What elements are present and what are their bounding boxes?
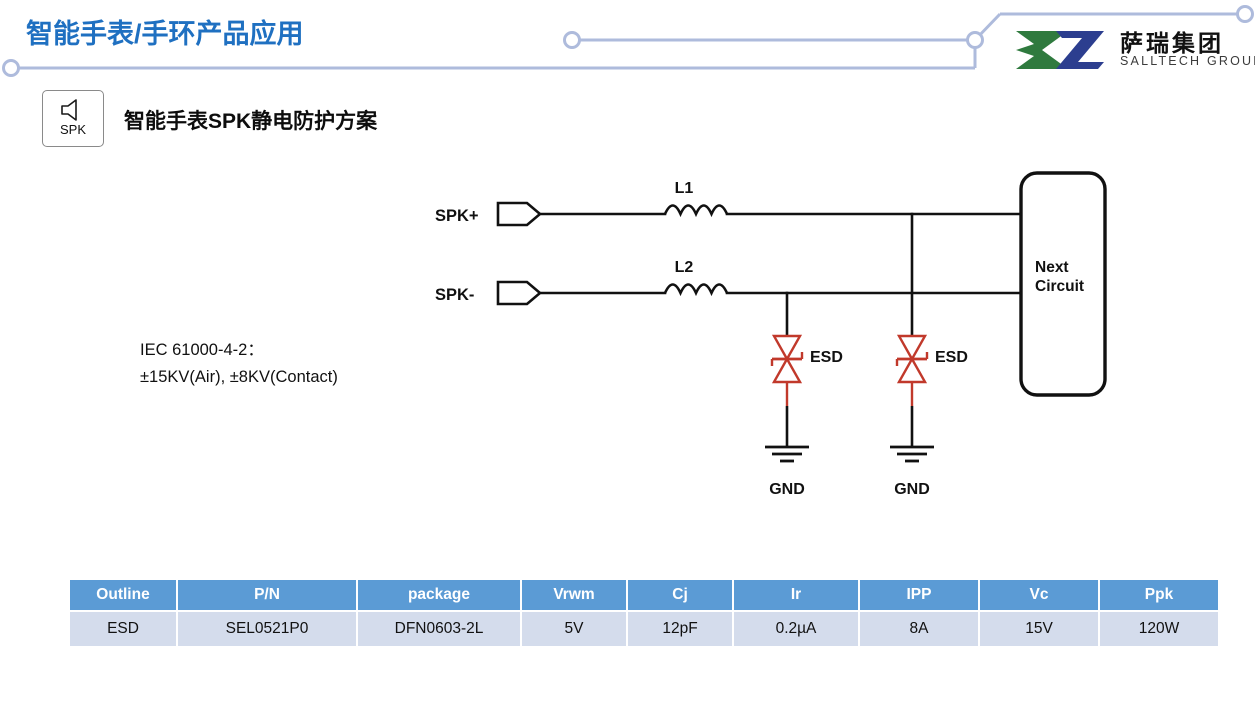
next-circuit-label-line2: Circuit: [1035, 278, 1084, 295]
table-header-pn: P/N: [178, 580, 356, 610]
ground-symbol-left: [765, 447, 809, 461]
deco-node-elbow: [968, 33, 983, 48]
label-gnd-left: GND: [769, 481, 805, 498]
salltech-sz-mark-icon: [1012, 29, 1112, 71]
label-esd-left: ESD: [810, 349, 843, 366]
deco-node-far-right: [1238, 7, 1253, 22]
speaker-icon: [60, 99, 86, 121]
cell-ir: 0.2µA: [734, 612, 858, 646]
esd-left-triangle-top: [774, 336, 800, 359]
table-header-vrwm: Vrwm: [522, 580, 626, 610]
esd-device-left: [772, 336, 802, 406]
logo-green-s: [1016, 31, 1068, 69]
logo-blue-z: [1056, 31, 1104, 69]
parameter-table: Outline P/N package Vrwm Cj Ir IPP Vc Pp…: [68, 578, 1220, 648]
iec-spec-block: IEC 61000-4-2： ±15KV(Air), ±8KV(Contact): [140, 337, 338, 391]
table-header-package: package: [358, 580, 520, 610]
speaker-icon-label: SPK: [43, 122, 103, 137]
table-header-cj: Cj: [628, 580, 732, 610]
logo-chinese-name: 萨瑞集团: [1120, 24, 1224, 58]
label-spk-plus: SPK+: [435, 207, 479, 225]
ground-symbol-right: [890, 447, 934, 461]
connector-spk-minus: [498, 282, 540, 304]
table-header-outline: Outline: [70, 580, 176, 610]
cell-cj: 12pF: [628, 612, 732, 646]
cell-pn: SEL0521P0: [178, 612, 356, 646]
speaker-icon-box: SPK: [42, 90, 104, 147]
company-logo: 萨瑞集团 SALLTECH GROUP: [1012, 26, 1244, 74]
page-title: 智能手表/手环产品应用: [26, 12, 304, 51]
inductor-l2-symbol: [665, 285, 727, 294]
label-inductor-l1: L1: [675, 180, 694, 197]
table-header-ir: Ir: [734, 580, 858, 610]
esd-left-triangle-bottom: [774, 359, 800, 382]
next-circuit-label-line1: Next: [1035, 259, 1069, 276]
deco-line-diagonal: [975, 14, 1000, 40]
table-row: ESD SEL0521P0 DFN0603-2L 5V 12pF 0.2µA 8…: [70, 612, 1218, 646]
label-esd-right: ESD: [935, 349, 968, 366]
slide-root: 智能手表/手环产品应用 萨瑞集团 SALLTECH GROUP SPK 智能手表…: [0, 0, 1255, 707]
inductor-l1-symbol: [665, 206, 727, 215]
iec-spec-line-1: IEC 61000-4-2：: [140, 337, 338, 364]
iec-spec-line-2: ±15KV(Air), ±8KV(Contact): [140, 364, 338, 391]
cell-ppk: 120W: [1100, 612, 1218, 646]
cell-vc: 15V: [980, 612, 1098, 646]
cell-vrwm: 5V: [522, 612, 626, 646]
cell-ipp: 8A: [860, 612, 978, 646]
table-header-ipp: IPP: [860, 580, 978, 610]
table-header-ppk: Ppk: [1100, 580, 1218, 610]
esd-right-triangle-bottom: [899, 359, 925, 382]
table-header-row: Outline P/N package Vrwm Cj Ir IPP Vc Pp…: [70, 580, 1218, 610]
label-spk-minus: SPK-: [435, 286, 474, 304]
esd-device-right: [897, 336, 927, 406]
logo-english-name: SALLTECH GROUP: [1120, 54, 1255, 68]
section-title: 智能手表SPK静电防护方案: [124, 105, 377, 135]
deco-node-mid: [565, 33, 580, 48]
label-inductor-l2: L2: [675, 259, 694, 276]
connector-spk-plus: [498, 203, 540, 225]
deco-node-left: [4, 61, 19, 76]
cell-package: DFN0603-2L: [358, 612, 520, 646]
cell-outline: ESD: [70, 612, 176, 646]
label-gnd-right: GND: [894, 481, 930, 498]
esd-right-triangle-top: [899, 336, 925, 359]
table-header-vc: Vc: [980, 580, 1098, 610]
